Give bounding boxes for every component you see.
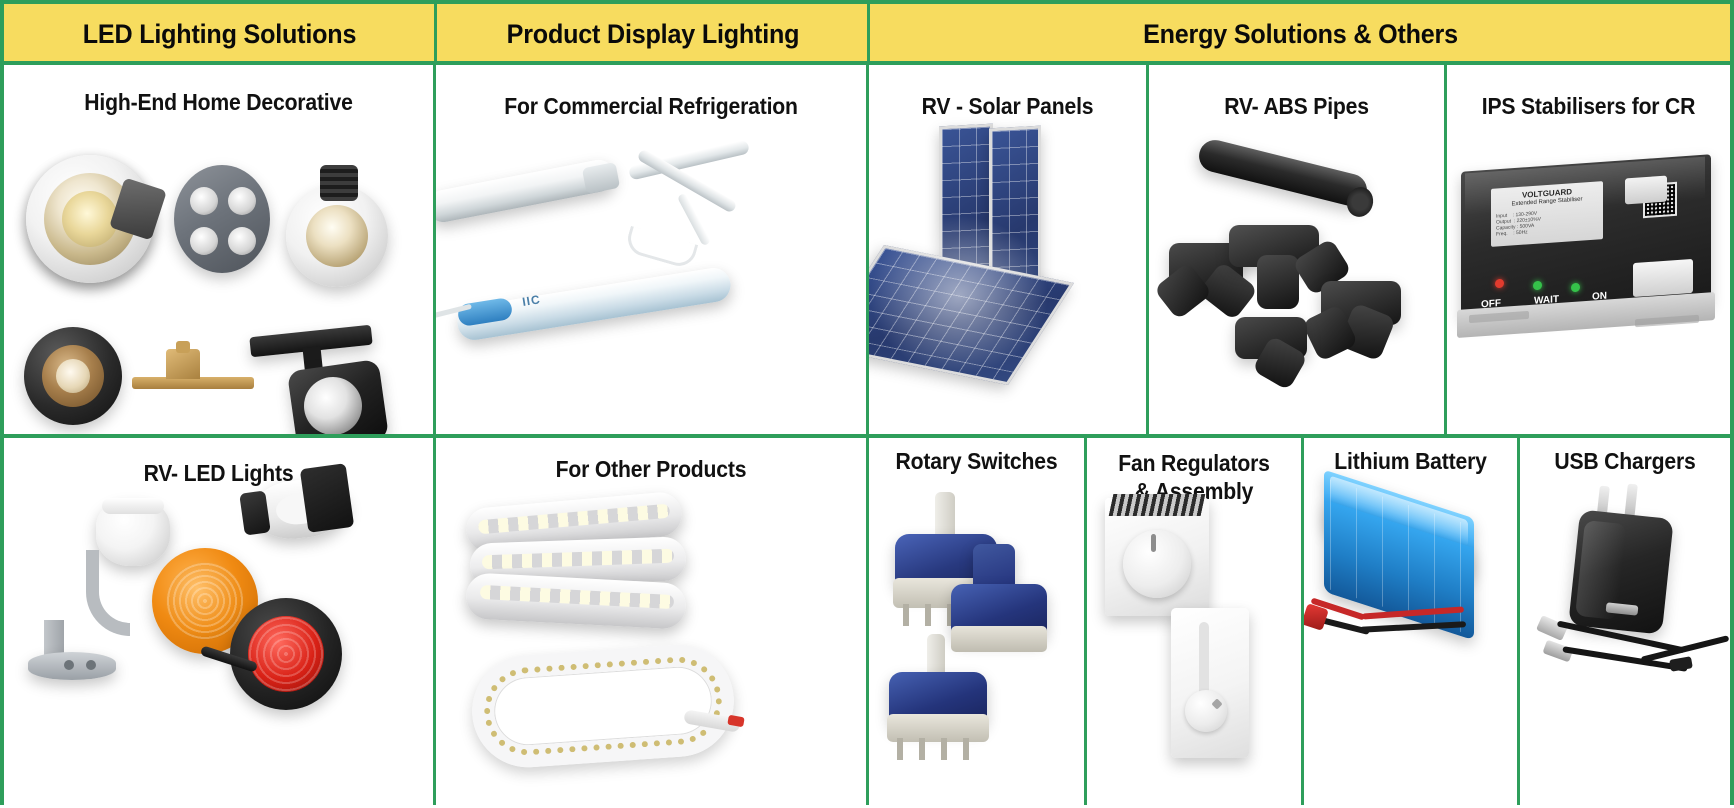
cell-usb-chargers[interactable]: USB Chargers [1520,438,1730,805]
cell-for-commercial-refrigeration[interactable]: For Commercial Refrigeration IIC [436,65,866,434]
lithium-battery-pack-photo [1304,438,1517,805]
header-group-label: Energy Solutions & Others [1143,19,1458,50]
header-group-product-display: Product Display Lighting [453,4,853,64]
ips-stabiliser-photo: VOLTGUARD Extended Range Stabiliser Inpu… [1447,65,1730,434]
header-group-label: LED Lighting Solutions [83,19,356,50]
cell-fan-regulators-and-assembly[interactable]: Fan Regulators & Assembly [1087,438,1301,805]
header-divider-1 [434,4,437,64]
header-band: LED Lighting Solutions Product Display L… [0,0,1734,64]
grid-border-right [1730,61,1734,805]
cell-ips-stabilisers-for-cr[interactable]: IPS Stabilisers for CR VOLTGUARD Extende… [1447,65,1730,434]
fan-regulators-photo [1087,438,1301,805]
header-group-led-lighting: LED Lighting Solutions [19,4,420,64]
cell-rotary-switches[interactable]: Rotary Switches [869,438,1084,805]
cell-high-end-home-decorative[interactable]: High-End Home Decorative [4,65,433,434]
product-category-grid: LED Lighting Solutions Product Display L… [0,0,1734,808]
cell-lithium-battery[interactable]: Lithium Battery [1304,438,1517,805]
cell-rv-solar-panels[interactable]: RV - Solar Panels [869,65,1146,434]
cell-rv-led-lights[interactable]: RV- LED Lights [4,438,433,805]
header-group-energy-solutions: Energy Solutions & Others [901,4,1700,64]
home-decorative-led-fixtures-photo [4,65,433,434]
header-divider-2 [867,4,870,64]
cell-rv-abs-pipes[interactable]: RV- ABS Pipes [1149,65,1444,434]
rotary-switches-photo [869,438,1084,805]
refrigeration-led-tubes-photo: IIC [436,65,866,434]
solar-panels-photo [869,65,1146,434]
rv-led-lights-photo [4,438,433,805]
cell-for-other-products[interactable]: For Other Products [436,438,866,805]
header-group-label: Product Display Lighting [507,19,800,50]
usb-charger-adapter-photo [1520,438,1730,805]
flexible-led-strips-photo [436,438,866,805]
abs-pipe-fittings-photo [1149,65,1444,434]
